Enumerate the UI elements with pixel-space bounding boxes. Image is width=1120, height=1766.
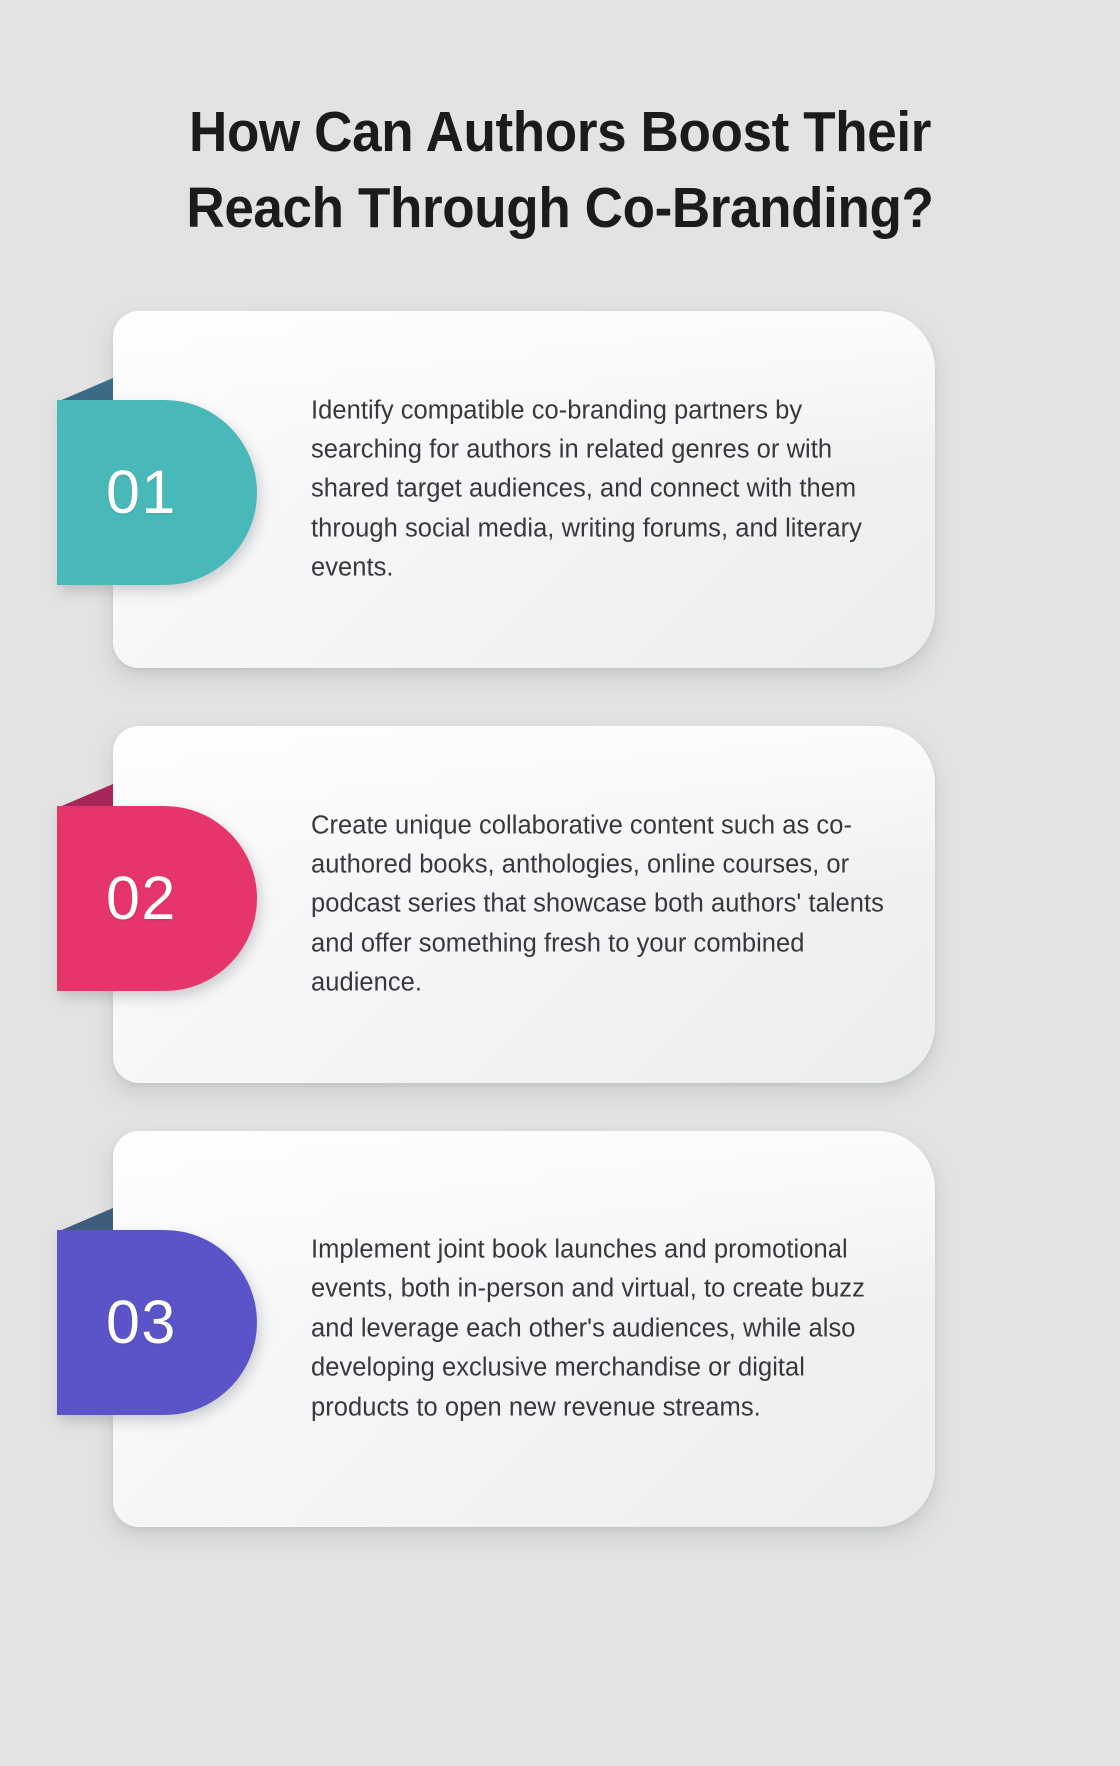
- step-number-label-3: 03: [106, 1292, 177, 1353]
- fold-accent-2: [57, 784, 113, 808]
- fold-accent-1: [57, 378, 113, 402]
- step-number-label-2: 02: [106, 868, 177, 929]
- step-description-1: Identify compatible co-branding partners…: [311, 391, 891, 588]
- step-number-badge-2: 02: [57, 806, 257, 991]
- fold-accent-3: [57, 1208, 113, 1232]
- step-number-badge-3: 03: [57, 1230, 257, 1415]
- step-description-2: Create unique collaborative content such…: [311, 806, 891, 1003]
- page-title-container: How Can Authors Boost TheirReach Through…: [0, 95, 1120, 247]
- step-number-label-1: 01: [106, 462, 177, 523]
- page-title: How Can Authors Boost TheirReach Through…: [123, 95, 997, 247]
- page-title-line-1: How Can Authors Boost Their: [189, 100, 931, 164]
- page-title-line-2: Reach Through Co-Branding?: [186, 176, 933, 240]
- step-number-badge-1: 01: [57, 400, 257, 585]
- infographic-page: How Can Authors Boost TheirReach Through…: [0, 0, 1120, 1766]
- step-description-3: Implement joint book launches and promot…: [311, 1231, 891, 1428]
